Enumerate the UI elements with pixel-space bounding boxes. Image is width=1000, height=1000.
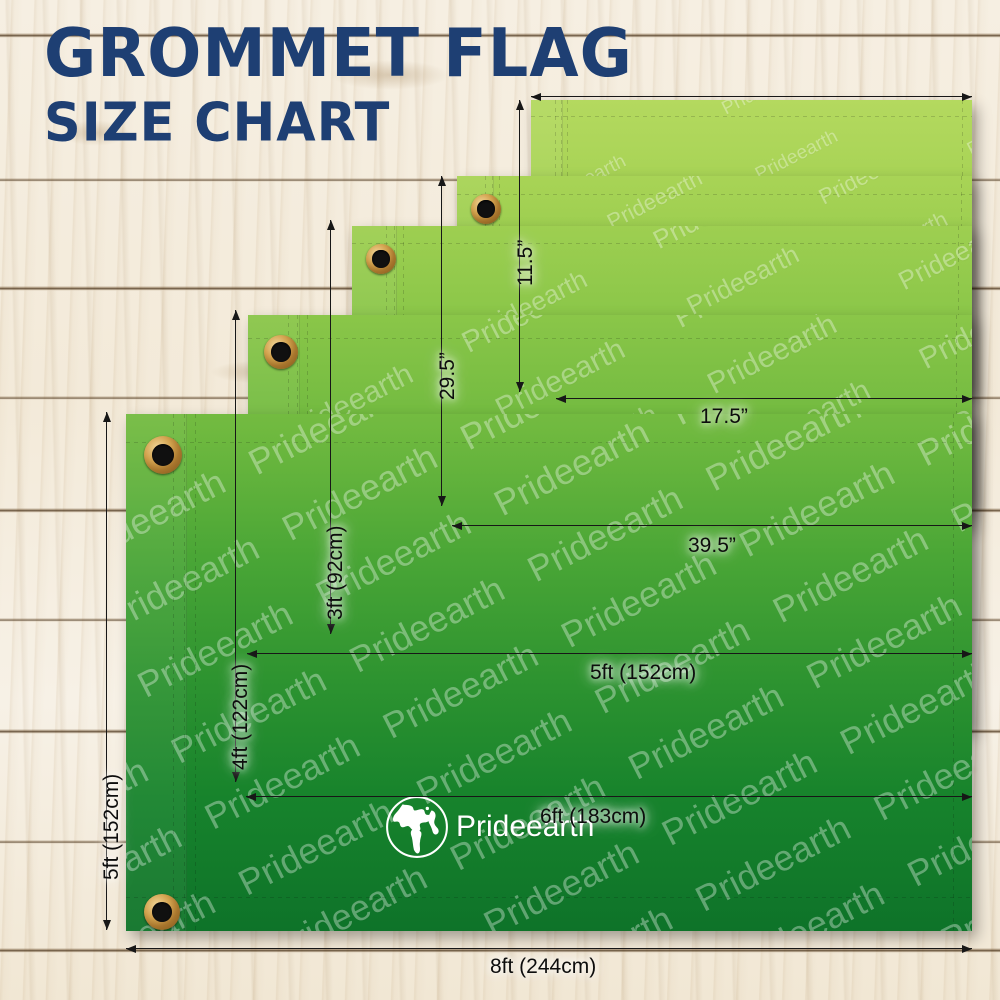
arrow-head <box>962 793 972 801</box>
hem-stitch-line <box>173 414 174 931</box>
dim-label-width-6ft: 6ft (183cm) <box>540 805 646 829</box>
dim-label-height-11-5: 11.5” <box>514 240 538 286</box>
arrow-head <box>247 650 257 658</box>
hem-stitch-line <box>126 897 972 898</box>
hem-stitch-line <box>352 243 972 244</box>
arrow-head <box>962 93 972 101</box>
arrow-head <box>327 624 335 634</box>
dim-label-width-5ft: 5ft (152cm) <box>590 661 696 685</box>
arrow-head <box>438 496 446 506</box>
arrow-head <box>452 522 462 530</box>
dim-label-width-8ft: 8ft (244cm) <box>490 955 596 979</box>
dim-line-width-39-5 <box>452 525 972 526</box>
arrow-head <box>327 220 335 230</box>
arrow-head <box>232 310 240 320</box>
grommet <box>471 194 501 224</box>
hem-stitch-line <box>126 442 972 443</box>
arrow-head <box>962 395 972 403</box>
arrow-head <box>103 920 111 930</box>
dim-line-height-29-5 <box>441 176 442 506</box>
arrow-head <box>126 945 136 953</box>
arrow-head <box>438 176 446 186</box>
arrow-head <box>246 793 256 801</box>
hem-stitch-line <box>953 414 954 931</box>
grommet <box>264 335 298 369</box>
dim-label-height-3ft: 3ft (92cm) <box>324 525 348 620</box>
arrow-head <box>962 945 972 953</box>
dim-line-width-8ft <box>126 948 972 949</box>
hem-stitch-line <box>248 338 972 339</box>
grommet <box>366 244 396 274</box>
arrow-head <box>556 395 566 403</box>
page-title: GROMMET FLAG SIZE CHART <box>44 22 600 144</box>
dim-label-width-17-5: 17.5” <box>700 405 748 429</box>
grommet <box>144 436 182 474</box>
dim-line-width-5ft <box>247 653 972 654</box>
title-line-2: SIZE CHART <box>44 98 633 149</box>
globe-icon <box>384 794 450 860</box>
arrow-head <box>103 412 111 422</box>
arrow-head <box>232 772 240 782</box>
dim-label-height-29-5: 29.5” <box>436 352 460 400</box>
dim-line-width-17-5 <box>556 398 972 399</box>
hem-stitch-line <box>457 194 972 195</box>
dim-label-width-39-5: 39.5” <box>688 534 736 558</box>
grommet <box>144 894 180 930</box>
arrow-head <box>962 522 972 530</box>
dim-label-height-4ft: 4ft (122cm) <box>229 664 253 770</box>
arrow-head <box>962 650 972 658</box>
title-line-1: GROMMET FLAG <box>44 22 633 85</box>
dim-line-width-6ft <box>246 796 972 797</box>
hem-stitch-line <box>195 414 196 931</box>
arrow-head <box>516 382 524 392</box>
flag-hem-band <box>126 414 187 931</box>
hem-stitch-line <box>184 414 185 931</box>
dim-label-height-5ft: 5ft (152cm) <box>100 774 124 880</box>
